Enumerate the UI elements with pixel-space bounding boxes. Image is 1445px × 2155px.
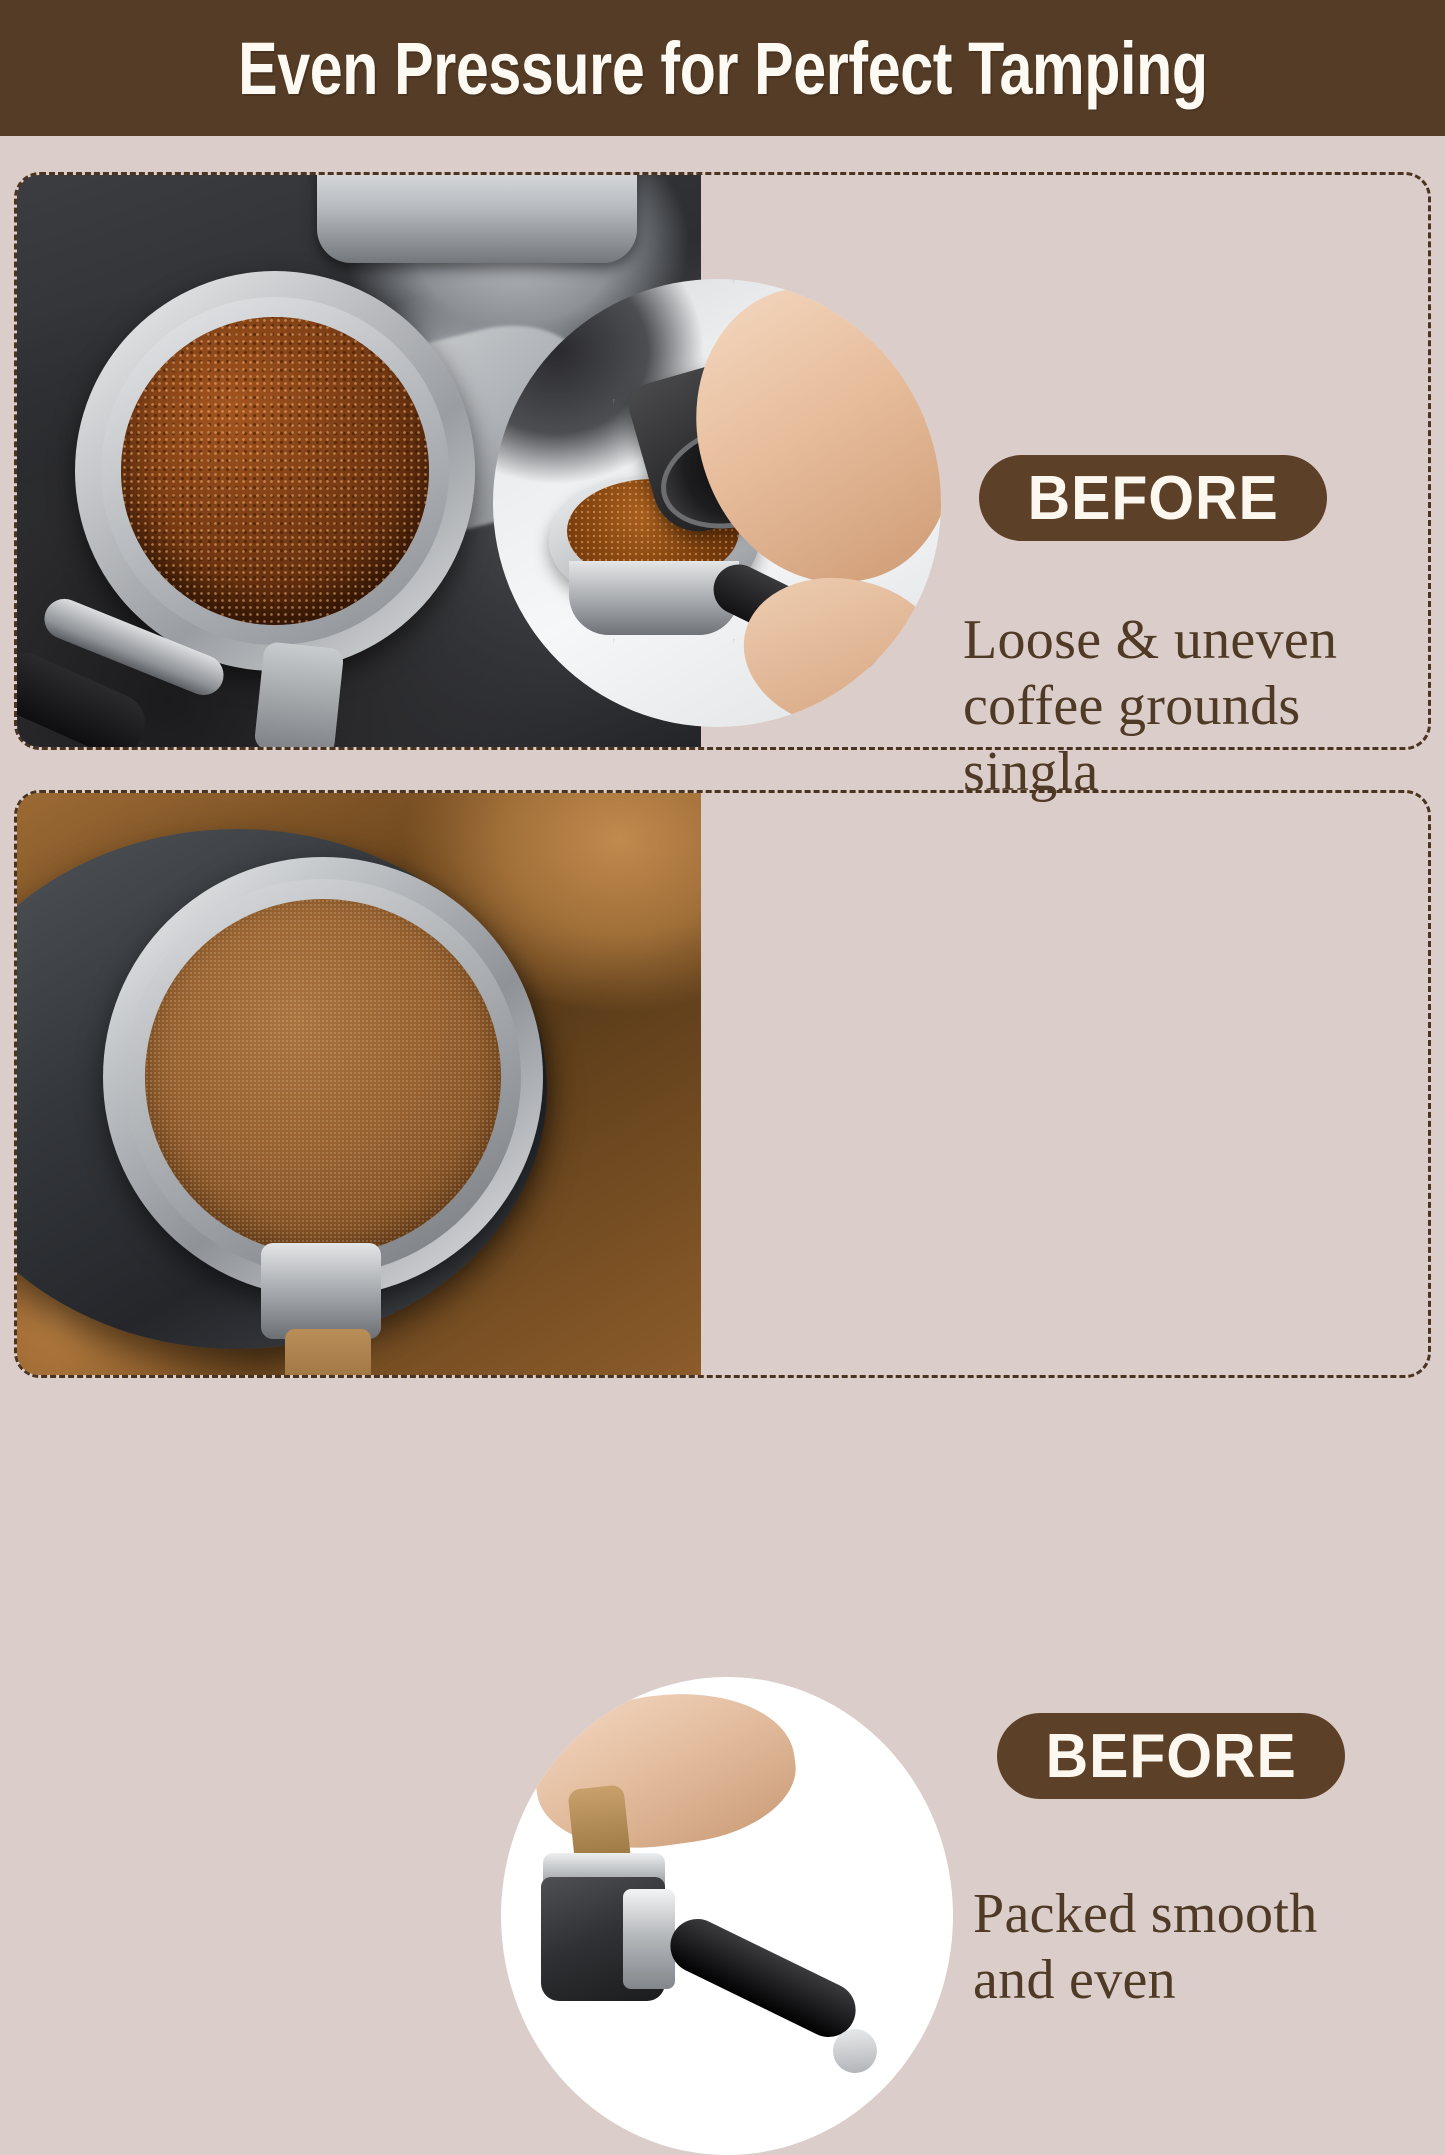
inset-chrome-spout-shape (623, 1889, 675, 1989)
caption-top: Loose & uneven coffee grounds singla (963, 607, 1403, 805)
comparison-panel-top: BEFORE Loose & uneven coffee grounds sin… (14, 172, 1431, 750)
inset-portafilter-body-shape (569, 561, 739, 635)
status-badge-top: BEFORE (979, 455, 1327, 541)
photo-inset-dosing-cup (493, 279, 941, 727)
inset-hand-shape (526, 1678, 804, 1863)
header-bar: Even Pressure for Perfect Tamping (0, 0, 1445, 136)
comparison-panel-bottom: BEFORE Packed smooth and even (14, 790, 1431, 1378)
photo-tamped-puck-portafilter (17, 793, 701, 1375)
loose-coffee-grounds-shape (121, 317, 429, 625)
caption-bottom-line-1: Packed smooth (973, 1881, 1413, 1947)
portafilter-neck-shape (261, 1243, 381, 1339)
tamped-coffee-puck-shape (145, 899, 501, 1255)
caption-bottom-line-2: and even (973, 1947, 1413, 2013)
status-badge-top-label: BEFORE (1027, 463, 1278, 534)
portafilter-spout-b-shape (254, 641, 345, 747)
status-badge-bottom: BEFORE (997, 1713, 1345, 1799)
page-title: Even Pressure for Perfect Tamping (238, 26, 1207, 111)
photo-inset-tamping (501, 1677, 953, 2155)
espresso-grouphead-shape (317, 175, 637, 263)
wood-handle-shape (285, 1329, 371, 1375)
inset-black-handle-shape (661, 1910, 864, 2046)
caption-bottom: Packed smooth and even (973, 1881, 1413, 2013)
status-badge-bottom-label: BEFORE (1045, 1721, 1296, 1792)
caption-top-line-2: coffee grounds (963, 673, 1403, 739)
caption-top-line-1: Loose & uneven (963, 607, 1403, 673)
